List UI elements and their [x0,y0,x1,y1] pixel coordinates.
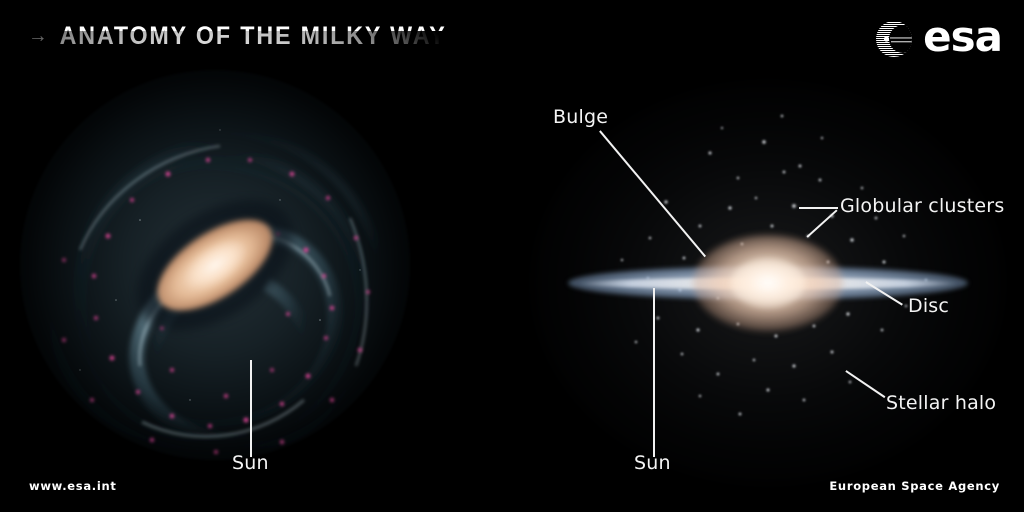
leader-line-sun-face-on [250,360,252,457]
footer-website[interactable]: www.esa.int [29,479,117,493]
panel-face-on: Sun [0,0,512,512]
label-sun-face-on: Sun [232,452,269,474]
galactic-bulge-core-edge [731,258,805,308]
label-sun-edge-on: Sun [634,452,671,474]
label-stellar-halo: Stellar halo [886,392,996,414]
milky-way-face-on-illustration [20,70,410,460]
galaxy-vignette [0,31,449,499]
label-bulge: Bulge [553,106,608,128]
panel-edge-on [512,0,1024,512]
label-disc: Disc [908,295,949,317]
infographic-page: → ANATOMY OF THE MILKY WAY [0,0,1024,512]
milky-way-edge-on-illustration [532,30,1004,482]
label-globular-clusters: Globular clusters [840,195,1004,217]
leader-line-sun-edge-on [653,288,655,457]
leader-line-globular-clusters [799,207,838,209]
footer-organisation: European Space Agency [829,479,1000,493]
